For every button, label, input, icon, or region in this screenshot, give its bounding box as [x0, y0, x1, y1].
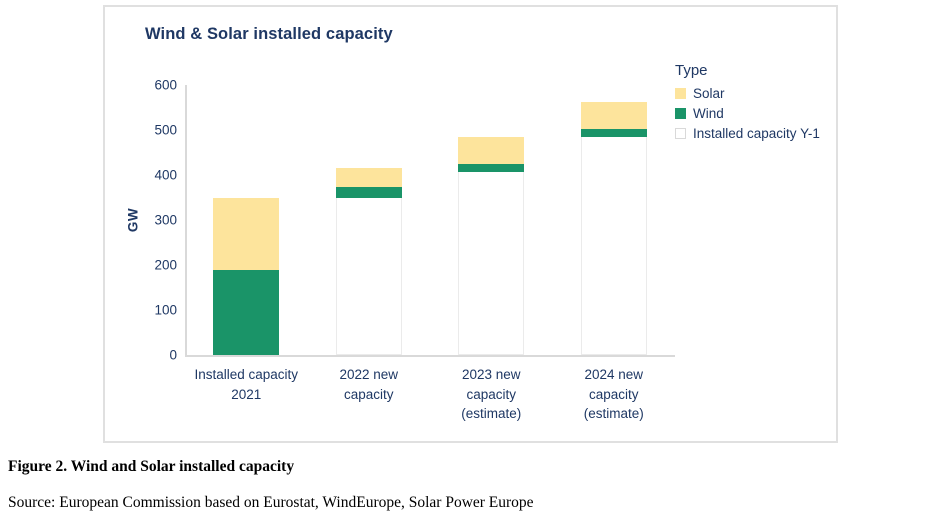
- bar-segment-solar[interactable]: [213, 198, 279, 270]
- x-axis-label-1: Installed capacity2021: [185, 365, 308, 404]
- legend-swatch-icon: [675, 108, 686, 119]
- x-axis-label-line: (estimate): [430, 404, 553, 424]
- figure-caption-source: Source: European Commission based on Eur…: [8, 494, 534, 512]
- legend-item-solar[interactable]: Solar: [675, 86, 840, 101]
- y-tick-400: 400: [154, 168, 177, 183]
- bar-segment-wind[interactable]: [336, 187, 402, 197]
- bar-group-4[interactable]: [581, 102, 647, 355]
- plot-area: GW 0100200300400500600 Installed capacit…: [185, 85, 675, 355]
- legend-item-label: Installed capacity Y-1: [693, 126, 820, 141]
- legend-title: Type: [675, 62, 840, 79]
- x-axis-label-line: 2021: [185, 385, 308, 405]
- x-axis-label-line: 2022 new: [308, 365, 431, 385]
- bar-segment-wind[interactable]: [458, 164, 524, 172]
- legend-swatch-icon: [675, 128, 686, 139]
- figure-frame: Wind & Solar installed capacity GW 01002…: [103, 5, 838, 443]
- y-tick-0: 0: [169, 348, 177, 363]
- x-axis-label-line: (estimate): [553, 404, 676, 424]
- x-axis-label-line: capacity: [308, 385, 431, 405]
- x-axis-label-3: 2023 newcapacity(estimate): [430, 365, 553, 424]
- bar-group-2[interactable]: [336, 168, 402, 355]
- bar-segment-installed-capacity-y-1[interactable]: [458, 172, 524, 355]
- bar-group-3[interactable]: [458, 137, 524, 355]
- legend-item-wind[interactable]: Wind: [675, 106, 840, 121]
- bar-segment-solar[interactable]: [458, 137, 524, 164]
- x-axis-label-2: 2022 newcapacity: [308, 365, 431, 404]
- bar-segment-installed-capacity-y-1[interactable]: [336, 198, 402, 356]
- x-axis-label-line: capacity: [553, 385, 676, 405]
- figure-caption-title: Figure 2. Wind and Solar installed capac…: [8, 458, 294, 476]
- legend-item-label: Solar: [693, 86, 725, 101]
- x-axis-label-4: 2024 newcapacity(estimate): [553, 365, 676, 424]
- y-tick-100: 100: [154, 303, 177, 318]
- x-axis-label-line: Installed capacity: [185, 365, 308, 385]
- bar-segment-wind[interactable]: [581, 129, 647, 137]
- y-tick-600: 600: [154, 78, 177, 93]
- bar-segment-solar[interactable]: [336, 168, 402, 187]
- y-axis-title: GW: [126, 208, 141, 232]
- bar-segment-wind[interactable]: [213, 270, 279, 356]
- y-tick-500: 500: [154, 123, 177, 138]
- legend-item-installed-capacity-y-1[interactable]: Installed capacity Y-1: [675, 126, 840, 141]
- x-axis-label-line: capacity: [430, 385, 553, 405]
- x-axis-label-line: 2023 new: [430, 365, 553, 385]
- y-tick-300: 300: [154, 213, 177, 228]
- bar-group-1[interactable]: [213, 198, 279, 356]
- legend: Type SolarWindInstalled capacity Y-1: [675, 62, 840, 146]
- x-axis-label-line: 2024 new: [553, 365, 676, 385]
- y-tick-200: 200: [154, 258, 177, 273]
- legend-swatch-icon: [675, 88, 686, 99]
- bar-segment-installed-capacity-y-1[interactable]: [581, 137, 647, 355]
- legend-item-label: Wind: [693, 106, 724, 121]
- chart-title: Wind & Solar installed capacity: [145, 25, 393, 44]
- bar-segment-solar[interactable]: [581, 102, 647, 129]
- legend-items: SolarWindInstalled capacity Y-1: [675, 86, 840, 141]
- x-axis-line: [185, 355, 675, 357]
